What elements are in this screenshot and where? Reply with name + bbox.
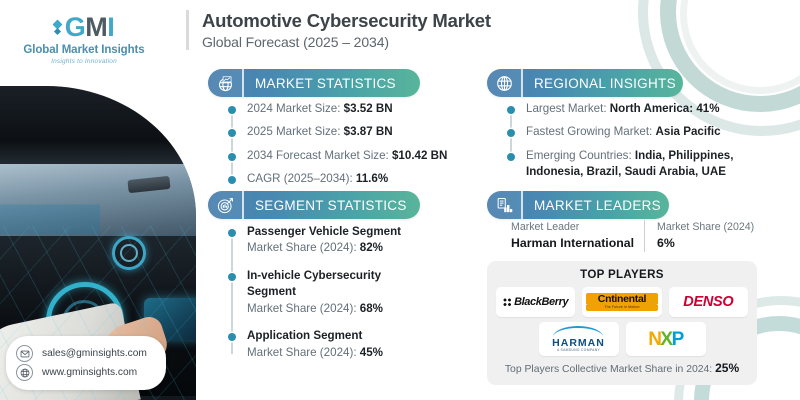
- market-leader-value: Harman International: [511, 235, 634, 252]
- top-players-row-1: BlackBerry Cntinental The Future in Moti…: [496, 287, 748, 317]
- envelope-icon: [16, 345, 33, 362]
- list-item: Largest Market: North America: 41%: [507, 101, 782, 117]
- footnote-label: Top Players Collective Market Share in 2…: [505, 364, 715, 375]
- section-header-market-leaders: MARKET LEADERS: [487, 191, 669, 219]
- bullet-dot: [507, 153, 515, 161]
- infographic-page: GMI Global Market Insights Insights to I…: [0, 0, 800, 400]
- bullet-dot: [228, 229, 236, 237]
- logo-text: NXP: [648, 330, 683, 349]
- podium-chart-icon: [487, 191, 523, 219]
- list-item: 2034 Forecast Market Size: $10.42 BN: [228, 148, 478, 164]
- page-subtitle: Global Forecast (2025 – 2034): [202, 34, 491, 50]
- regional-insights-list: Largest Market: North America: 41% Faste…: [507, 101, 782, 181]
- bullet-dot: [228, 273, 236, 281]
- list-item: 2024 Market Size: $3.52 BN: [228, 101, 478, 117]
- item-value: North America: 41%: [610, 102, 720, 115]
- logo-blackberry: BlackBerry: [496, 287, 575, 317]
- item-label: Market Share (2024):: [247, 302, 360, 315]
- logo-text: BlackBerry: [514, 296, 568, 308]
- globe-icon: [16, 364, 33, 381]
- market-share-column: Market Share (2024) 6%: [644, 220, 764, 252]
- logo-nxp: NXP: [626, 322, 706, 356]
- section-header-regional-insights: REGIONAL INSIGHTS: [487, 69, 683, 97]
- item-value: 82%: [360, 241, 383, 254]
- diamond-icon: [54, 21, 61, 34]
- logo-text-rest: ntinental: [605, 293, 646, 305]
- list-item: CAGR (2025–2034): 11.6%: [228, 171, 478, 187]
- logo-denso: DENSO: [669, 287, 748, 317]
- item-label: 2034 Forecast Market Size:: [247, 149, 392, 162]
- contact-website-row[interactable]: www.gminsights.com: [16, 364, 154, 381]
- logo-harman: HARMAN A SAMSUNG COMPANY: [539, 322, 619, 356]
- contact-website: www.gminsights.com: [42, 367, 137, 378]
- column-header: Market Leader: [511, 220, 634, 235]
- bullet-dot: [228, 129, 236, 137]
- list-item: In-vehicle Cybersecurity Segment Market …: [228, 268, 478, 317]
- page-title-block: Automotive Cybersecurity Market Global F…: [186, 10, 491, 50]
- top-players-row-2: HARMAN A SAMSUNG COMPANY NXP: [496, 322, 748, 356]
- market-share-value: 6%: [657, 235, 754, 252]
- item-title: In-vehicle Cybersecurity Segment: [247, 268, 395, 301]
- item-label: Largest Market:: [526, 102, 610, 115]
- blackberry-dots-icon: [503, 298, 512, 307]
- logo-subtext: A SAMSUNG COMPANY: [552, 349, 605, 352]
- list-item: Fastest Growing Market: Asia Pacific: [507, 124, 782, 140]
- bullet-dot: [228, 106, 236, 114]
- contact-card: sales@gminsights.com www.gminsights.com: [6, 336, 166, 390]
- market-statistics-list: 2024 Market Size: $3.52 BN 2025 Market S…: [228, 101, 478, 188]
- item-label: Market Share (2024):: [247, 241, 360, 254]
- list-item: Passenger Vehicle Segment Market Share (…: [228, 224, 478, 257]
- bullet-dot: [507, 129, 515, 137]
- bullet-dot: [228, 333, 236, 341]
- section-header-segment-statistics: SEGMENT STATISTICS: [208, 191, 420, 219]
- top-players-footnote: Top Players Collective Market Share in 2…: [496, 361, 748, 375]
- item-value: $3.87 BN: [344, 125, 393, 138]
- column-header: Market Share (2024): [657, 220, 754, 235]
- top-players-panel: TOP PLAYERS BlackBerry Cntinental The Fu…: [487, 261, 757, 385]
- logo-subtext: The Future in Motion: [586, 305, 658, 311]
- contact-email-row[interactable]: sales@gminsights.com: [16, 345, 154, 362]
- item-value: 45%: [360, 346, 383, 359]
- list-item: Emerging Countries: India, Philippines, …: [507, 148, 782, 181]
- section-header-market-statistics: MARKET STATISTICS: [208, 69, 420, 97]
- segment-statistics-list: Passenger Vehicle Segment Market Share (…: [228, 224, 478, 361]
- decorative-ring-top-right-inner: [680, 0, 800, 94]
- section-label: REGIONAL INSIGHTS: [523, 76, 676, 91]
- top-players-title: TOP PLAYERS: [496, 268, 748, 281]
- logo-mark-row: GMI: [14, 14, 154, 41]
- item-value: 68%: [360, 302, 383, 315]
- item-label: Fastest Growing Market:: [526, 125, 656, 138]
- item-label: 2024 Market Size:: [247, 102, 344, 115]
- market-leaders-table: Market Leader Harman International Marke…: [511, 220, 757, 252]
- logo-wordmark: GMI: [65, 14, 115, 41]
- contact-email: sales@gminsights.com: [42, 348, 147, 359]
- market-leader-column: Market Leader Harman International: [511, 220, 644, 252]
- bullet-dot: [228, 153, 236, 161]
- page-title: Automotive Cybersecurity Market: [202, 10, 491, 31]
- section-label: MARKET LEADERS: [523, 198, 661, 213]
- bullet-dot: [228, 176, 236, 184]
- car-roof: [0, 86, 196, 164]
- globe-chart-icon: [208, 69, 244, 97]
- decorative-ring-top-right-mid: [660, 0, 800, 112]
- target-chart-icon: [208, 191, 244, 219]
- list-item: 2025 Market Size: $3.87 BN: [228, 124, 478, 140]
- list-item: Application Segment Market Share (2024):…: [228, 328, 478, 361]
- item-title: Application Segment: [247, 328, 478, 344]
- footnote-value: 25%: [715, 361, 739, 375]
- item-title: Passenger Vehicle Segment: [247, 224, 478, 240]
- bullet-dot: [507, 106, 515, 114]
- item-label: 2025 Market Size:: [247, 125, 344, 138]
- item-label: CAGR (2025–2034):: [247, 172, 356, 185]
- item-value: $3.52 BN: [344, 102, 393, 115]
- hud-circle-inner: [120, 244, 138, 262]
- item-label: Market Share (2024):: [247, 346, 360, 359]
- logo-text: DENSO: [683, 294, 733, 310]
- list-connector-line: [231, 108, 233, 181]
- logo-text: HARMAN: [552, 338, 605, 349]
- gmi-logo: GMI Global Market Insights Insights to I…: [14, 14, 154, 65]
- logo-company-name: Global Market Insights: [14, 44, 154, 56]
- logo-text: C: [598, 293, 605, 305]
- item-value: $10.42 BN: [392, 149, 447, 162]
- item-value: 11.6%: [356, 172, 388, 185]
- globe-icon: [487, 69, 523, 97]
- section-label: SEGMENT STATISTICS: [244, 198, 407, 213]
- logo-continental: Cntinental The Future in Motion: [582, 287, 661, 317]
- logo-tagline: Insights to Innovation: [14, 58, 154, 65]
- item-label: Emerging Countries:: [526, 149, 635, 162]
- section-label: MARKET STATISTICS: [244, 76, 396, 91]
- city-view: [0, 160, 100, 234]
- item-value: Asia Pacific: [656, 125, 721, 138]
- harman-swoosh-icon: [553, 326, 603, 337]
